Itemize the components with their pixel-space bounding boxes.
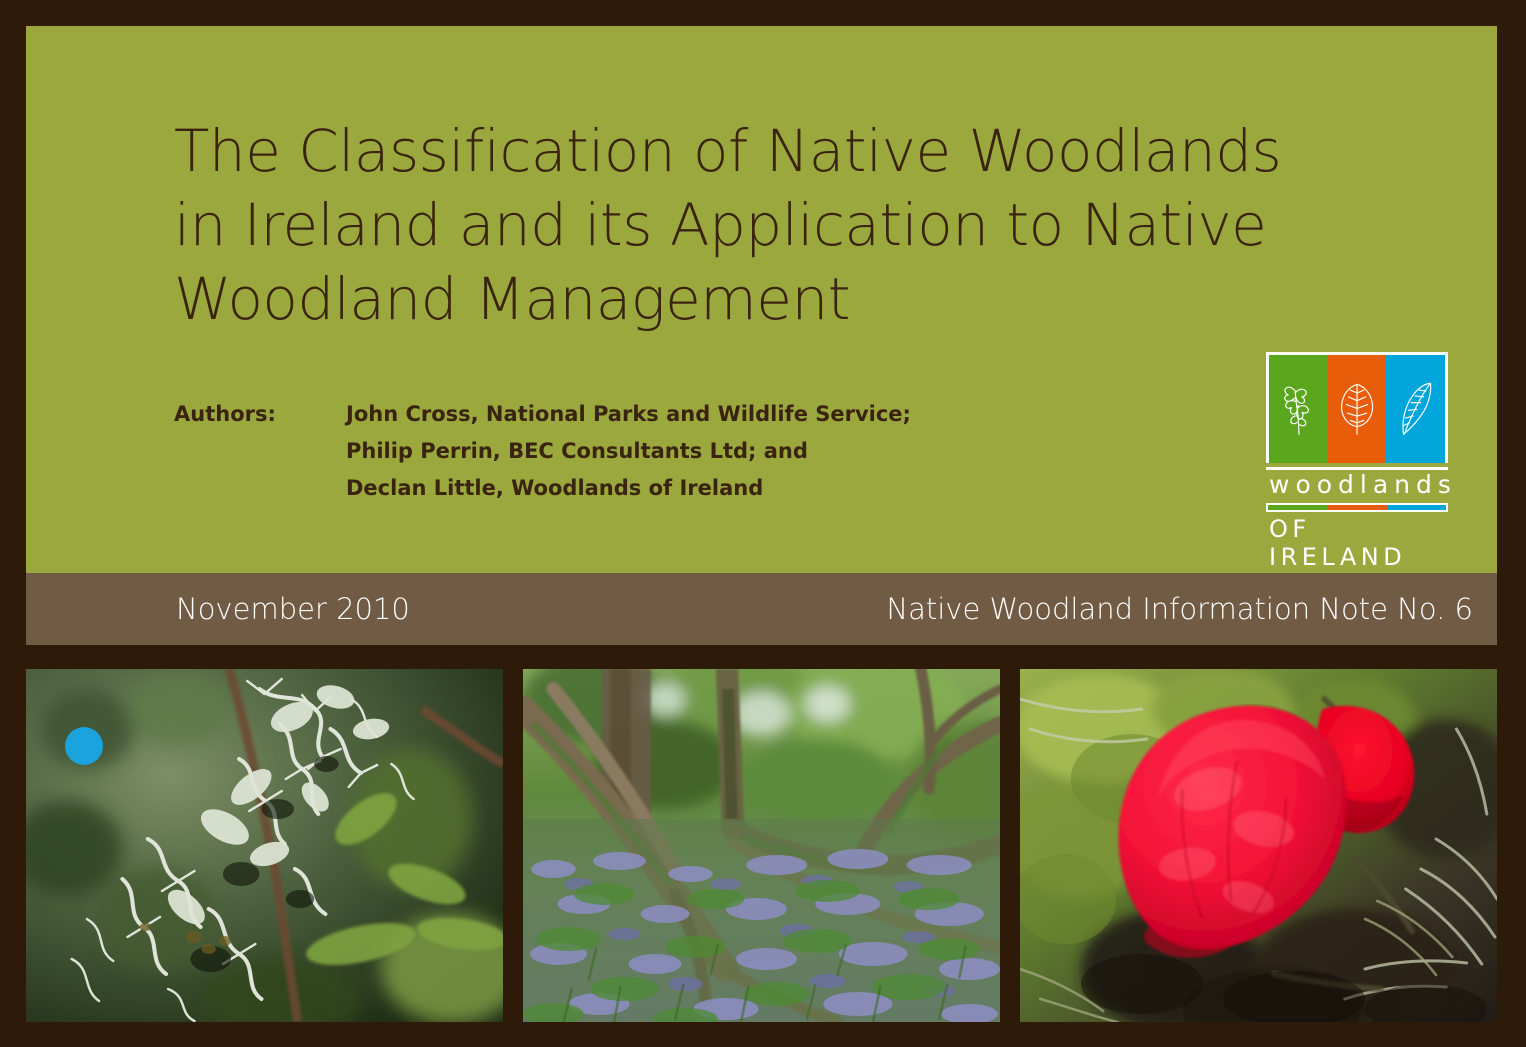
photo-strip bbox=[26, 669, 1497, 1022]
birch-leaf-panel bbox=[1328, 355, 1387, 463]
logo-country: OF IRELAND bbox=[1266, 515, 1448, 571]
cover-green-panel: The Classification of Native Woodlands i… bbox=[26, 26, 1497, 573]
author-entry: John Cross, National Parks and Wildlife … bbox=[346, 396, 911, 433]
lichen-photo-image bbox=[26, 669, 503, 1022]
birch-leaf-icon bbox=[1333, 364, 1381, 455]
logo-wordmark: woodlands bbox=[1266, 467, 1448, 500]
bluebell-woodland-photo bbox=[523, 669, 1000, 1022]
author-entry: Declan Little, Woodlands of Ireland bbox=[346, 470, 911, 507]
publication-date: November 2010 bbox=[176, 592, 410, 626]
logo-rule-blue bbox=[1387, 505, 1446, 510]
willow-leaf-panel bbox=[1386, 355, 1445, 463]
logo-panel-row bbox=[1266, 352, 1448, 463]
logo-color-rule bbox=[1266, 503, 1448, 512]
willow-leaf-icon bbox=[1392, 364, 1440, 455]
authors-list: John Cross, National Parks and Wildlife … bbox=[346, 396, 911, 507]
title-line-1: The Classification of Native Woodlands bbox=[174, 114, 1264, 188]
woodlands-of-ireland-logo: woodlands OF IRELAND Coillearnacha Dúcha… bbox=[1266, 352, 1448, 591]
logo-rule-orange bbox=[1327, 505, 1386, 510]
logo-rule-green bbox=[1268, 505, 1327, 510]
cover-page: The Classification of Native Woodlands i… bbox=[0, 0, 1526, 1047]
authors-label: Authors: bbox=[174, 396, 346, 433]
oak-leaf-panel bbox=[1269, 355, 1328, 463]
bluebell-woodland-image bbox=[523, 669, 1000, 1022]
title-line-3: Woodland Management bbox=[174, 262, 1264, 336]
footer-bar: November 2010 Native Woodland Informatio… bbox=[26, 573, 1497, 645]
author-entry: Philip Perrin, BEC Consultants Ltd; and bbox=[346, 433, 911, 470]
oak-leaf-icon bbox=[1274, 364, 1322, 455]
scarlet-elf-cup-photo bbox=[1020, 669, 1497, 1022]
page-title: The Classification of Native Woodlands i… bbox=[174, 114, 1264, 336]
title-line-2: in Ireland and its Application to Native bbox=[174, 188, 1264, 262]
information-note-label: Native Woodland Information Note No. 6 bbox=[886, 592, 1473, 626]
authors-block: Authors: John Cross, National Parks and … bbox=[174, 396, 911, 507]
scarlet-elf-cup-image bbox=[1020, 669, 1497, 1022]
cursor-dot bbox=[65, 727, 103, 765]
lichen-photo bbox=[26, 669, 503, 1022]
